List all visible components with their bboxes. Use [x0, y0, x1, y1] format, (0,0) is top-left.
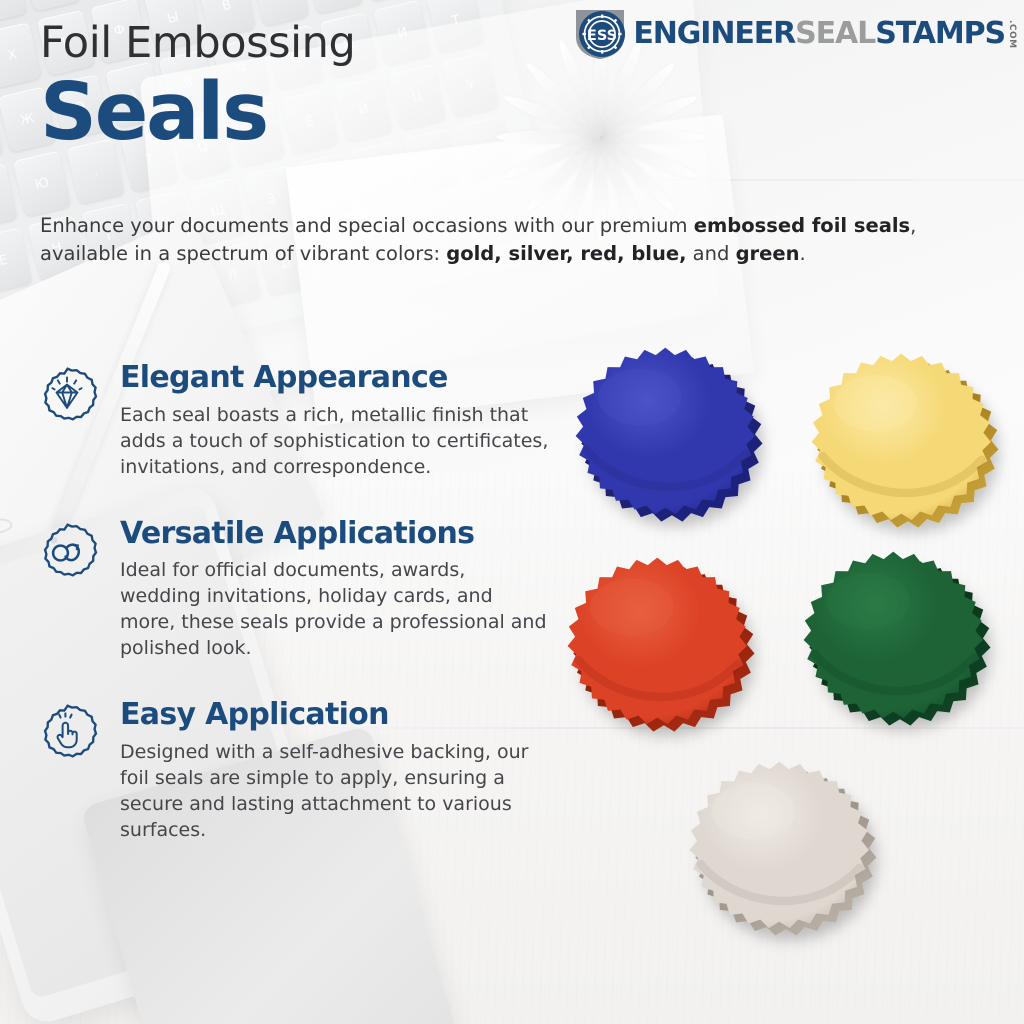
background-keyboard-key: П: [305, 0, 364, 14]
foil-seal-gold[interactable]: gold foil seal: [802, 344, 1010, 534]
foil-seal-specular: [712, 783, 795, 840]
foil-seal-specular: [590, 579, 673, 636]
ess-shield-icon: ESS: [573, 7, 627, 61]
intro-seg-3: and: [686, 242, 735, 265]
headline-secondary: Seals: [40, 74, 355, 151]
page-title: Foil Embossing Seals: [40, 22, 355, 151]
logo-word-engineer: ENGINEER: [633, 19, 795, 49]
logo-word-seal: SEAL: [795, 19, 875, 49]
background-keyboard-key-label: А: [256, 0, 305, 6]
background-keyboard-key-label: Ю: [17, 171, 66, 196]
infinity-badge-icon: [36, 522, 98, 584]
foil-seal-specular: [826, 573, 909, 630]
logo-wordmark: ENGINEER SEAL STAMPS .COM: [633, 19, 1016, 49]
background-keyboard-key: Е: [0, 227, 33, 293]
background-keyboard-key: Х: [0, 22, 42, 88]
feature-title: Elegant Appearance: [120, 362, 556, 394]
foil-seal-red[interactable]: red foil seal: [558, 548, 766, 738]
ess-badge-text: ESS: [587, 28, 617, 44]
background-keyboard-key: Й: [22, 0, 81, 11]
foil-seal-green[interactable]: green foil seal: [794, 542, 1002, 732]
intro-bold-green: green: [736, 242, 800, 265]
background-keyboard-key-label: Е: [0, 248, 28, 273]
logo-word-stamps: STAMPS: [875, 19, 1005, 49]
brand-logo[interactable]: ESS ENGINEER SEAL STAMPS .COM: [573, 8, 1016, 60]
background-notepad-coil: [0, 517, 13, 535]
feature-item-versatile-applications: Versatile Applications Ideal for officia…: [36, 518, 556, 662]
feature-item-easy-application: Easy Application Designed with a self-ad…: [36, 699, 556, 843]
intro-seg-1: Enhance your documents and special occas…: [40, 214, 694, 237]
intro-bold-color-list: gold, silver, red, blue,: [446, 242, 686, 265]
feature-item-elegant-appearance: Elegant Appearance Each seal boasts a ri…: [36, 362, 556, 480]
foil-seal-specular: [598, 369, 681, 426]
foil-seal-gallery: blue foil sealgold foil sealred foil sea…: [556, 330, 1024, 950]
intro-bold-embossed-foil-seals: embossed foil seals: [694, 214, 910, 237]
intro-paragraph: Enhance your documents and special occas…: [40, 212, 930, 269]
tap-hand-badge-icon: [36, 703, 98, 765]
background-keyboard-key-label: Х: [0, 42, 37, 67]
background-keyboard-key: Ё: [0, 0, 27, 24]
background-keyboard-key-label: Ё: [0, 0, 22, 3]
foil-seal-blue[interactable]: blue foil seal: [566, 338, 774, 528]
background-keyboard-key: Ю: [13, 151, 72, 217]
feature-title: Easy Application: [120, 699, 556, 731]
feature-list: Elegant Appearance Each seal boasts a ri…: [36, 362, 556, 881]
background-notepad-coil: [0, 490, 1, 508]
background-keyboard-key-label: Б: [0, 183, 13, 208]
feature-title: Versatile Applications: [120, 518, 556, 550]
feature-body: Designed with a self-adhesive backing, o…: [120, 739, 550, 843]
headline-primary: Foil Embossing: [40, 22, 355, 65]
logo-tld: .COM: [1007, 20, 1016, 49]
foil-seal-silver[interactable]: silver foil seal: [680, 752, 888, 942]
feature-body: Each seal boasts a rich, metallic finish…: [120, 402, 550, 480]
background-keyboard-key-label: В: [202, 0, 251, 18]
diamond-badge-icon: [36, 366, 98, 428]
background-keyboard-key-label: .: [71, 159, 120, 184]
infographic-page: QWЁЙЦУКЕНГШЩЗХЪФЫВАПРОЛДЖЭ\ЯЧСМИТЬБЮ.?QW…: [0, 0, 1024, 1024]
feature-body: Ideal for official documents, awards, we…: [120, 557, 550, 661]
intro-seg-4: .: [800, 242, 806, 265]
foil-seal-specular: [834, 375, 917, 432]
